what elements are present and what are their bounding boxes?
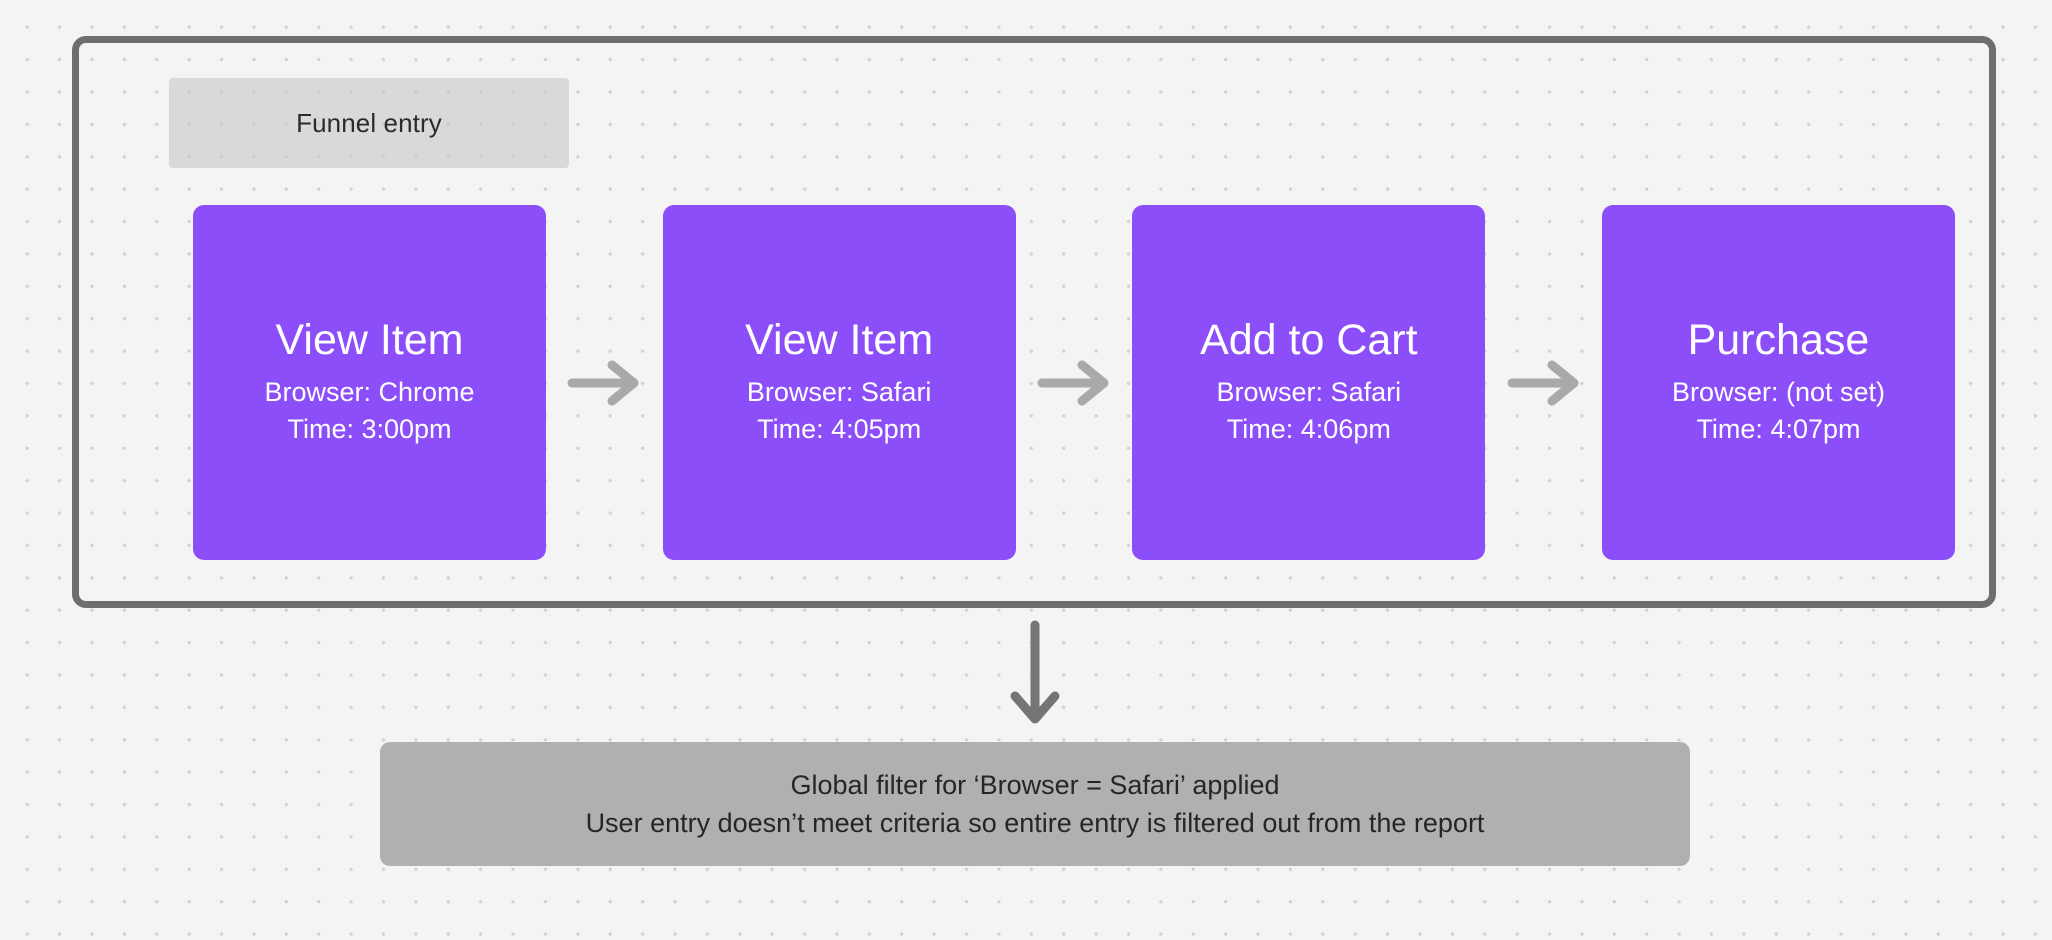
filter-note-line-1: Global filter for ‘Browser = Safari’ app… bbox=[791, 766, 1280, 804]
step-time: Time: 4:06pm bbox=[1227, 411, 1391, 448]
funnel-entry-label-text: Funnel entry bbox=[296, 108, 442, 139]
step-browser: Browser: Safari bbox=[1217, 374, 1402, 411]
funnel-step-card-2[interactable]: View Item Browser: Safari Time: 4:05pm bbox=[663, 205, 1016, 560]
step-time: Time: 4:05pm bbox=[757, 411, 921, 448]
funnel-entry-badge: Funnel entry bbox=[169, 78, 569, 168]
step-title: Add to Cart bbox=[1200, 318, 1418, 363]
step-time: Time: 4:07pm bbox=[1696, 411, 1860, 448]
step-title: View Item bbox=[745, 318, 933, 363]
global-filter-note: Global filter for ‘Browser = Safari’ app… bbox=[380, 742, 1690, 866]
funnel-step-card-4[interactable]: Purchase Browser: (not set) Time: 4:07pm bbox=[1602, 205, 1955, 560]
funnel-step-card-3[interactable]: Add to Cart Browser: Safari Time: 4:06pm bbox=[1132, 205, 1485, 560]
step-title: View Item bbox=[276, 318, 464, 363]
step-browser: Browser: Chrome bbox=[264, 374, 474, 411]
step-browser: Browser: Safari bbox=[747, 374, 932, 411]
filter-note-line-2: User entry doesn’t meet criteria so enti… bbox=[586, 804, 1485, 842]
funnel-entry-container: Funnel entry View Item Browser: Chrome T… bbox=[72, 36, 1996, 608]
funnel-step-card-1[interactable]: View Item Browser: Chrome Time: 3:00pm bbox=[193, 205, 546, 560]
arrow-right-icon-3 bbox=[1497, 356, 1591, 410]
arrow-down-icon bbox=[1007, 618, 1063, 728]
arrow-right-icon-1 bbox=[557, 356, 651, 410]
arrow-right-icon-2 bbox=[1027, 356, 1121, 410]
funnel-steps-row: View Item Browser: Chrome Time: 3:00pm V… bbox=[193, 205, 1955, 560]
step-browser: Browser: (not set) bbox=[1672, 374, 1885, 411]
step-title: Purchase bbox=[1688, 318, 1870, 363]
step-time: Time: 3:00pm bbox=[287, 411, 451, 448]
